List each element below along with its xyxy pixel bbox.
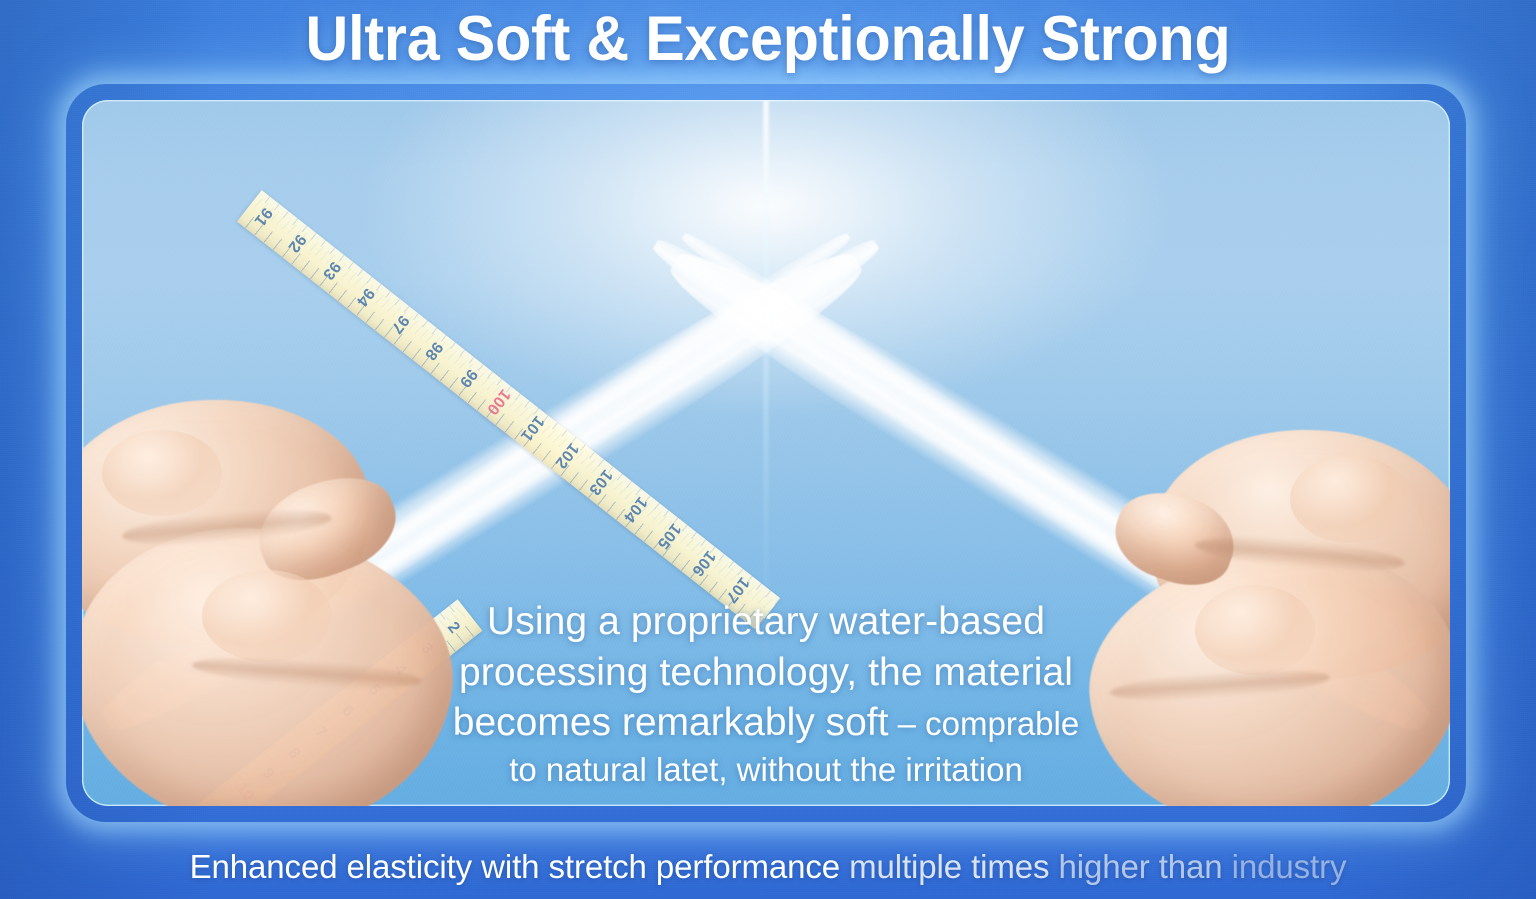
tape-number: 99: [455, 365, 480, 390]
tape-number: 105: [653, 519, 684, 552]
hero-image-panel: 234567891011121314151617181920 919293949…: [82, 100, 1450, 806]
photo-grain: [82, 100, 1450, 806]
tape-right-number-row: 91929394979899100101102103104105106107: [237, 190, 780, 630]
tape-number: 11: [205, 801, 230, 806]
tape-number: 7: [311, 724, 331, 742]
measuring-tape-right: 91929394979899100101102103104105106107: [237, 190, 780, 630]
tape-number: 100: [482, 385, 513, 418]
tape-number: 107: [721, 573, 752, 606]
tape-number: 97: [386, 311, 411, 336]
hand-left-knuckle-a: [102, 430, 222, 516]
caption-segment-2: multiple times: [849, 848, 1058, 885]
hand-left-knuckle-b: [202, 570, 332, 662]
elastic-film-left-highlight: [308, 225, 855, 601]
hand-right-crease-b: [1109, 664, 1330, 705]
elastic-film-right-highlight: [676, 225, 1223, 601]
tape-number: 98: [421, 338, 446, 363]
hand-right-knuckle-b: [1195, 585, 1315, 675]
body-copy-line-3-tail: – comprable: [888, 705, 1079, 742]
tape-number: 10: [232, 780, 257, 805]
tape-number: 94: [352, 284, 377, 309]
tape-number: 92: [284, 230, 309, 255]
tape-number: 101: [517, 412, 548, 445]
tape-number: 93: [318, 257, 343, 282]
caption-segment-4: industry: [1232, 848, 1347, 885]
tape-number: 9: [257, 765, 277, 783]
tape-number: 102: [551, 439, 582, 472]
bottom-caption: Enhanced elasticity with stretch perform…: [0, 848, 1536, 886]
hand-right-knuckle-a: [1290, 455, 1410, 543]
tape-number: 2: [443, 619, 463, 637]
tape-number: 3: [417, 640, 437, 658]
tape-number: 104: [619, 493, 650, 526]
page-title: Ultra Soft & Exceptionally Strong: [46, 2, 1490, 76]
tape-number: 6: [337, 703, 357, 721]
body-copy-line-3-main: becomes remarkably soft: [453, 701, 889, 744]
caption-segment-3: higher than: [1059, 848, 1232, 885]
tape-number: 106: [687, 546, 718, 579]
promo-banner: Ultra Soft & Exceptionally Strong 234567…: [0, 0, 1536, 899]
tape-number: 91: [250, 204, 275, 229]
tape-number: 8: [284, 744, 304, 762]
hero-photo: 234567891011121314151617181920 919293949…: [82, 100, 1450, 806]
caption-segment-1: Enhanced elasticity with stretch perform…: [190, 848, 849, 885]
tape-number: 103: [585, 466, 616, 499]
